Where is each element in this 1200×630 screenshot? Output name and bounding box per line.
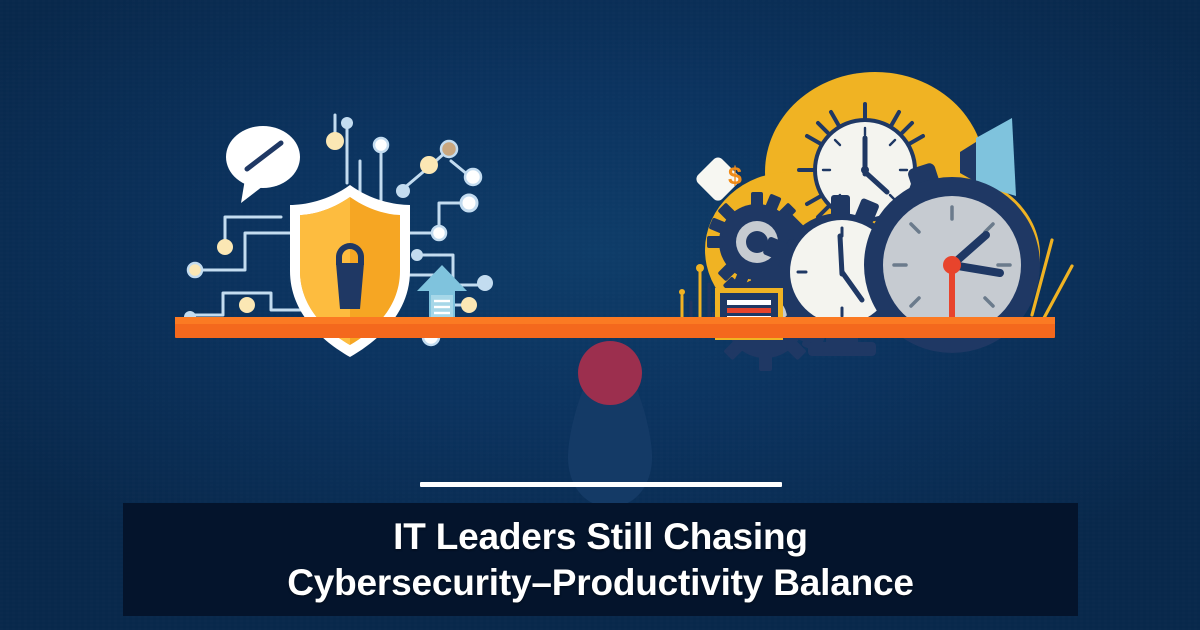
page-title: IT Leaders Still Chasing Cybersecurity–P… [287,514,914,604]
cybersecurity-cluster [185,105,515,340]
title-divider [420,482,782,487]
person-head [578,341,642,405]
poster-canvas: $ [0,0,1200,630]
caption-bar: IT Leaders Still Chasing Cybersecurity–P… [123,503,1078,616]
productivity-cluster: $ [660,60,1080,350]
fulcrum-group [520,335,700,515]
balance-beam [175,317,1055,341]
dollar-sign-glyph: $ [728,162,742,190]
speech-bubble-icon [226,126,300,203]
